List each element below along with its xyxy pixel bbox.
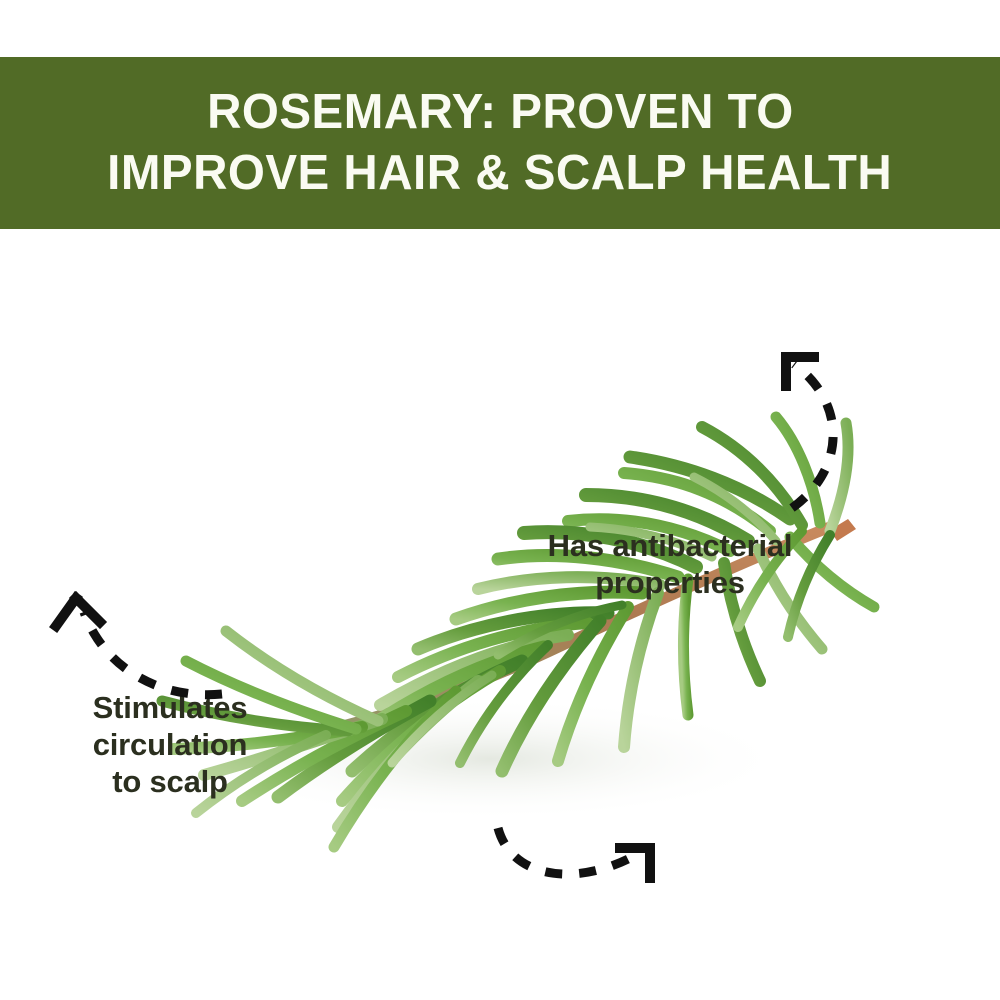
infographic-canvas: Rosemary: Proven to Improve Hair & Scalp… [0, 0, 1000, 1000]
product-image-area: Has antibacterial properties Stimulates … [0, 229, 1000, 1000]
annotation-antibacterial: Has antibacterial properties [490, 527, 850, 601]
rosemary-sprig-image [130, 399, 890, 879]
banner-title-line-2: Improve Hair & Scalp Health [107, 143, 892, 204]
banner-title-line-1: Rosemary: Proven to [207, 82, 794, 143]
annotation-circulation: Stimulates circulation to scalp [50, 689, 290, 800]
title-banner: Rosemary: Proven to Improve Hair & Scalp… [0, 57, 1000, 229]
